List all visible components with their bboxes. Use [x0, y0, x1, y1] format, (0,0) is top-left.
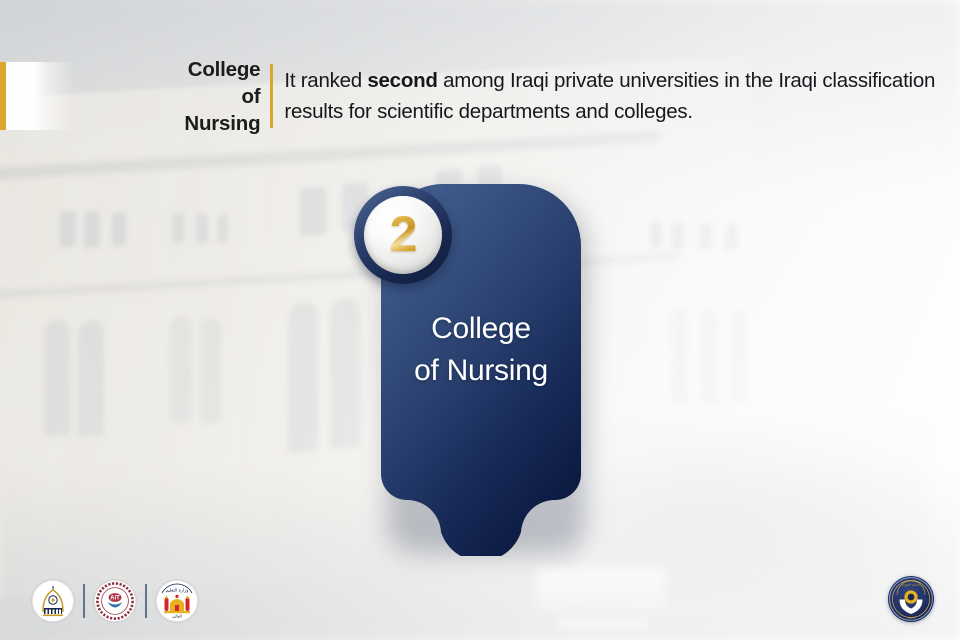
header-gold-divider [270, 64, 273, 128]
pin-title: College of Nursing [381, 308, 581, 392]
center-watermark [536, 568, 666, 614]
medical-association-icon: AIT [94, 580, 136, 622]
rank-badge: 2 [354, 186, 452, 284]
svg-text:وزارة التعليم: وزارة التعليم [166, 588, 189, 593]
svg-text:ضمان الجودة: ضمان الجودة [902, 583, 920, 587]
brand-block [0, 62, 72, 130]
footer-divider-1 [83, 584, 85, 618]
headline-prefix: It ranked [284, 69, 367, 92]
quality-assurance-logo: ضمان الجودة الاعتماد [888, 576, 934, 622]
badge-inner-disc: 2 [364, 196, 442, 274]
brand-name-label: College of Nursing [184, 56, 260, 137]
svg-text:العالي: العالي [172, 613, 182, 618]
svg-text:الاعتماد: الاعتماد [906, 615, 915, 619]
rank-pin-marker: College of Nursing 2 [381, 184, 581, 556]
headline-emphasis: second [367, 69, 437, 92]
footer-divider-2 [145, 584, 147, 618]
center-watermark-sub [556, 618, 648, 630]
svg-text:AIT: AIT [110, 596, 120, 602]
university-emblem-icon [32, 580, 74, 622]
quality-assurance-icon: ضمان الجودة الاعتماد [888, 576, 934, 622]
ministry-emblem-logo: وزارة التعليم العالي [156, 580, 198, 622]
quality-assurance-disc: ضمان الجودة الاعتماد [888, 576, 934, 622]
badge-rank-number: 2 [390, 209, 417, 259]
brand-white-sheet [6, 62, 72, 130]
ministry-emblem-icon: وزارة التعليم العالي [156, 580, 198, 622]
headline-text: It ranked second among Iraqi private uni… [284, 65, 960, 127]
footer-logo-group: AIT وزارة التعليم العالي [32, 580, 198, 622]
header-bar: College of Nursing It ranked second amon… [0, 62, 960, 130]
poster-canvas: College of Nursing It ranked second amon… [0, 0, 960, 640]
medical-association-logo: AIT [94, 580, 136, 622]
university-emblem-logo [32, 580, 74, 622]
